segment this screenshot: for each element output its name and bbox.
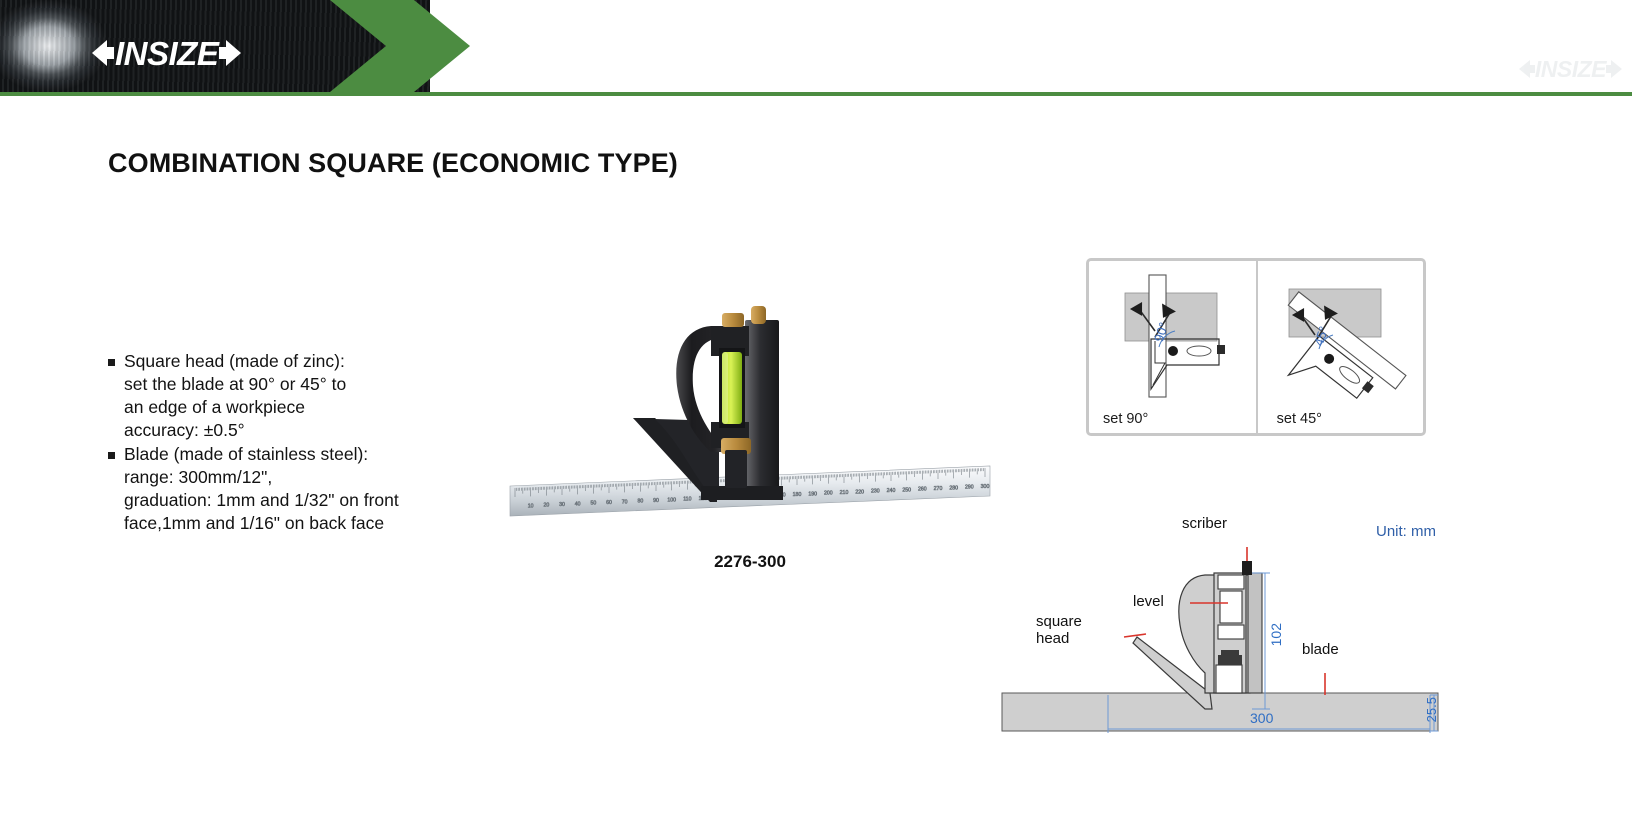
svg-text:280: 280 xyxy=(949,485,958,491)
svg-text:90: 90 xyxy=(653,498,659,504)
feature-line: range: 300mm/12", xyxy=(124,466,399,489)
usage-label-set-45: set 45° xyxy=(1277,411,1322,427)
callout-square-head-line2: head xyxy=(1036,630,1082,647)
watermark-right-arrow-icon xyxy=(1611,60,1622,78)
dimension-blade-length: 300 xyxy=(1250,710,1273,726)
bullet-square-icon xyxy=(108,359,115,366)
watermark-wordmark: INSIZE xyxy=(1535,58,1606,81)
svg-text:210: 210 xyxy=(840,490,849,496)
callout-square-head-line1: square xyxy=(1036,613,1082,630)
callout-square-head: square head xyxy=(1036,613,1082,647)
watermark-left-arrow-icon xyxy=(1519,60,1530,78)
usage-panel-90: 90° xyxy=(1125,275,1225,397)
unit-note: Unit: mm xyxy=(1376,523,1436,540)
header-green-rule xyxy=(0,92,1632,96)
feature-list: Square head (made of zinc): set the blad… xyxy=(108,350,488,536)
svg-text:70: 70 xyxy=(622,499,628,505)
svg-text:50: 50 xyxy=(590,501,596,507)
usage-diagram-svg: 90° 45° xyxy=(1089,261,1423,433)
logo-right-bar xyxy=(219,47,226,59)
feature-line: Blade (made of stainless steel): xyxy=(124,443,399,466)
callout-level: level xyxy=(1133,593,1164,610)
svg-text:260: 260 xyxy=(918,487,927,493)
svg-text:190: 190 xyxy=(808,491,817,497)
feature-item-square-head: Square head (made of zinc): set the blad… xyxy=(108,350,488,442)
feature-line: accuracy: ±0.5° xyxy=(124,419,346,442)
feature-line: graduation: 1mm and 1/32" on front xyxy=(124,489,399,512)
usage-diagram-box: 90° 45° set 90° set 45° xyxy=(1086,258,1426,436)
svg-text:30: 30 xyxy=(559,502,565,508)
page-title: COMBINATION SQUARE (ECONOMIC TYPE) xyxy=(108,148,678,179)
product-caption: 2276-300 xyxy=(505,552,995,572)
dimension-height: 102 xyxy=(1268,623,1284,646)
feature-line: Square head (made of zinc): xyxy=(124,350,346,373)
svg-text:110: 110 xyxy=(683,497,691,503)
dimension-blade-width: 25.5 xyxy=(1424,697,1439,722)
dimension-drawing: Unit: mm scriber level square head blade… xyxy=(1000,505,1440,740)
svg-text:80: 80 xyxy=(637,499,643,505)
svg-text:180: 180 xyxy=(793,492,802,498)
bullet-square-icon xyxy=(108,452,115,459)
svg-text:230: 230 xyxy=(871,489,880,495)
callout-scriber: scriber xyxy=(1182,515,1227,532)
svg-text:10: 10 xyxy=(528,503,534,509)
callout-blade: blade xyxy=(1302,641,1339,658)
svg-text:40: 40 xyxy=(575,501,581,507)
feature-line: set the blade at 90° or 45° to xyxy=(124,373,346,396)
svg-text:100: 100 xyxy=(667,497,676,503)
product-photo: 1020304050607080901001101201301401501601… xyxy=(505,290,995,540)
feature-line: an edge of a workpiece xyxy=(124,396,346,419)
logo-wordmark: INSIZE xyxy=(114,37,219,70)
svg-text:20: 20 xyxy=(543,503,549,509)
usage-label-set-90: set 90° xyxy=(1103,411,1148,427)
insize-watermark-logo: INSIZE xyxy=(1519,56,1622,82)
svg-text:240: 240 xyxy=(887,488,896,494)
logo-left-arrow-icon xyxy=(92,40,107,66)
logo-right-arrow-icon xyxy=(226,40,241,66)
svg-text:290: 290 xyxy=(965,485,974,491)
square-head-body xyxy=(633,320,783,502)
svg-text:220: 220 xyxy=(855,489,864,495)
svg-text:60: 60 xyxy=(606,500,612,506)
usage-panel-45: 45° xyxy=(1288,289,1406,421)
logo-left-bar xyxy=(107,47,114,59)
insize-logo: INSIZE xyxy=(92,35,241,71)
page-header: INSIZE INSIZE xyxy=(0,0,1632,96)
product-photo-svg: 1020304050607080901001101201301401501601… xyxy=(505,290,995,540)
svg-text:270: 270 xyxy=(934,486,943,492)
feature-text: Square head (made of zinc): set the blad… xyxy=(124,350,346,442)
feature-line: face,1mm and 1/16" on back face xyxy=(124,512,399,535)
feature-text: Blade (made of stainless steel): range: … xyxy=(124,443,399,535)
svg-text:250: 250 xyxy=(902,487,911,493)
svg-text:300: 300 xyxy=(981,484,990,490)
feature-item-blade: Blade (made of stainless steel): range: … xyxy=(108,443,488,535)
svg-text:200: 200 xyxy=(824,491,833,497)
